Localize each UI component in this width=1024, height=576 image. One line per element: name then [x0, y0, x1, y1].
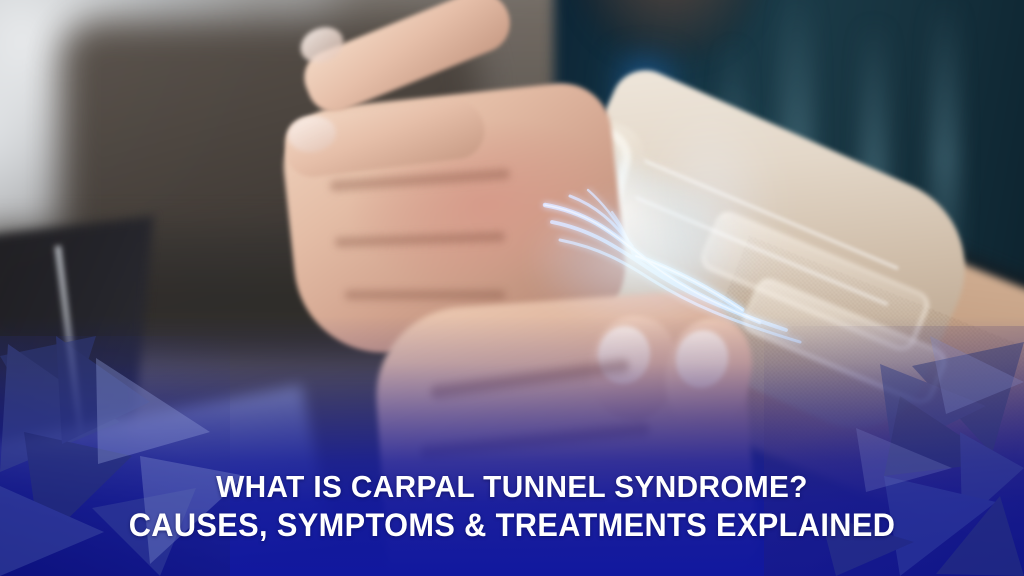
index-fingernail	[295, 21, 349, 69]
middle-fingernail	[286, 113, 338, 155]
index-finger	[296, 0, 519, 120]
shirt-neckline	[574, 0, 764, 60]
title-line-1: WHAT IS CARPAL TUNNEL SYNDROME?	[20, 468, 1003, 506]
shirt-fold	[930, 0, 960, 320]
glowing-nerve-overlay-secondary	[600, 60, 820, 360]
banner-title: WHAT IS CARPAL TUNNEL SYNDROME? CAUSES, …	[0, 468, 1024, 544]
brace-thumb-cuff	[464, 98, 652, 340]
shirt-fold	[722, 40, 744, 320]
knuckle-crease	[345, 288, 505, 302]
title-line-2: CAUSES, SYMPTOMS & TREATMENTS EXPLAINED	[20, 506, 1003, 544]
shirt-fold	[860, 20, 888, 320]
knuckle-crease	[335, 229, 505, 250]
hero-banner: WHAT IS CARPAL TUNNEL SYNDROME? CAUSES, …	[0, 0, 1024, 576]
blurred-sofa-cushion-upper	[330, 0, 630, 230]
brace-stitch-line	[611, 186, 889, 307]
knuckle-crease	[330, 166, 511, 195]
middle-finger	[282, 96, 488, 180]
blurred-sofa-cushion	[60, 20, 480, 350]
brace-stitch-line	[631, 154, 900, 271]
brace-thumb-loop	[475, 106, 637, 319]
brace-specular-highlight	[529, 141, 737, 329]
shirt-fold	[780, 0, 814, 320]
